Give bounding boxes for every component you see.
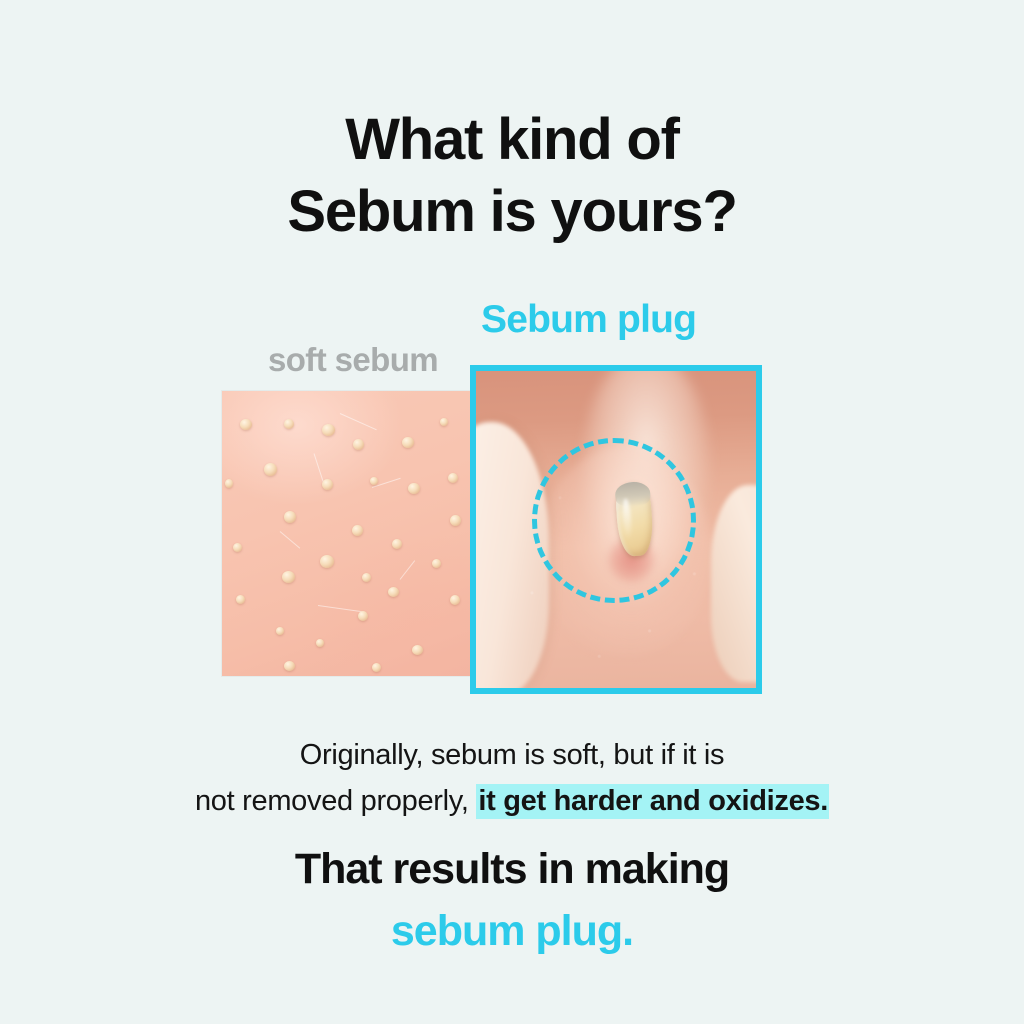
plug-scene [476, 371, 756, 688]
closing-line-2-accent: sebum plug. [0, 900, 1024, 962]
body-line-2-prefix: not removed properly, [195, 785, 476, 817]
body-line-1: Originally, sebum is soft, but if it is [0, 732, 1024, 778]
body-paragraph: Originally, sebum is soft, but if it is … [0, 732, 1024, 824]
page-title-line-1: What kind of [0, 104, 1024, 176]
sebum-plug-label: Sebum plug [481, 296, 696, 344]
page-title: What kind of Sebum is yours? [0, 104, 1024, 248]
body-line-2: not removed properly, it get harder and … [0, 778, 1024, 824]
soft-sebum-label: soft sebum [268, 340, 438, 380]
sebum-plug-extraction-photo [470, 365, 762, 694]
dashed-circle-highlight-icon [532, 438, 696, 603]
page-title-line-2: Sebum is yours? [0, 176, 1024, 248]
body-highlighted-phrase: it get harder and oxidizes. [476, 784, 829, 819]
closing-statement: That results in making sebum plug. [0, 838, 1024, 962]
infographic-page: What kind of Sebum is yours? soft sebum … [0, 0, 1024, 1024]
sebum-bump-cluster [222, 391, 472, 676]
soft-sebum-skin-photo [222, 391, 472, 676]
closing-line-1: That results in making [0, 838, 1024, 900]
